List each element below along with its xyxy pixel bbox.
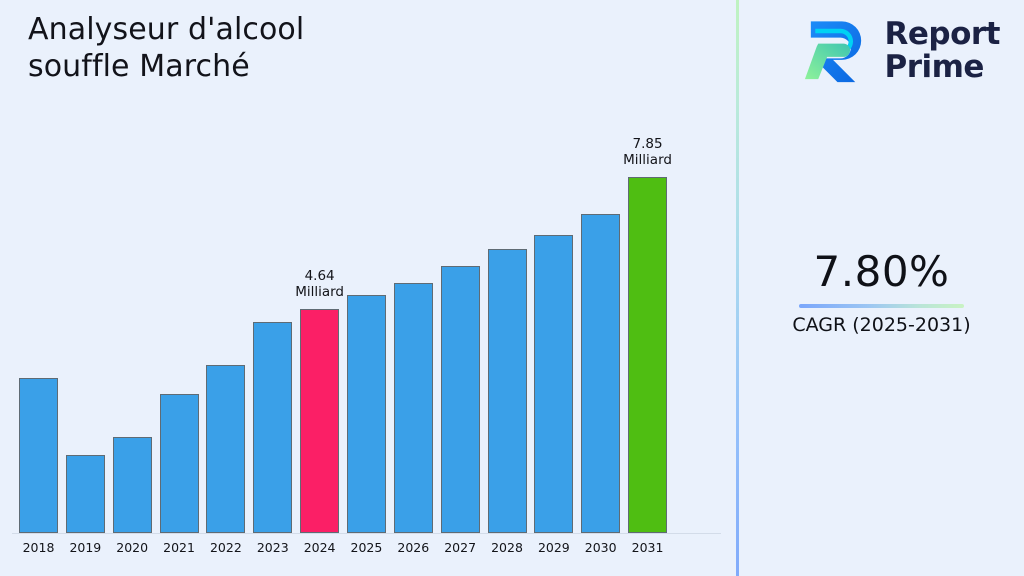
- chart-panel: Analyseur d'alcool souffle Marché 201820…: [0, 0, 736, 576]
- x-tick-2030: 2030: [577, 540, 624, 555]
- cagr-value: 7.80%: [739, 250, 1024, 294]
- bar-chart: 20182019202020212022202320244.64 Milliar…: [0, 0, 736, 576]
- cagr-underline: [799, 304, 964, 308]
- bar-2030[interactable]: [581, 214, 620, 533]
- bar-2020[interactable]: [113, 437, 152, 533]
- x-tick-2031: 2031: [624, 540, 671, 555]
- summary-panel: Report Prime 7.80% CAGR (2025-2031): [739, 0, 1024, 576]
- bar-2027[interactable]: [441, 266, 480, 533]
- bar-2028[interactable]: [488, 249, 527, 533]
- x-tick-2019: 2019: [62, 540, 109, 555]
- bar-2029[interactable]: [534, 235, 573, 533]
- x-tick-2020: 2020: [109, 540, 156, 555]
- cagr-caption: CAGR (2025-2031): [739, 314, 1024, 337]
- bar-2023[interactable]: [253, 322, 292, 533]
- cagr-block: 7.80% CAGR (2025-2031): [739, 250, 1024, 337]
- x-tick-2022: 2022: [202, 540, 249, 555]
- x-tick-2028: 2028: [484, 540, 531, 555]
- bar-2024[interactable]: [300, 309, 339, 533]
- bar-2026[interactable]: [394, 283, 433, 533]
- x-tick-2029: 2029: [530, 540, 577, 555]
- x-axis-line: [12, 533, 721, 534]
- x-tick-2026: 2026: [390, 540, 437, 555]
- x-tick-2021: 2021: [156, 540, 203, 555]
- bar-2021[interactable]: [160, 394, 199, 533]
- report-prime-logo: Report Prime: [799, 14, 1001, 88]
- bar-2031[interactable]: [628, 177, 667, 533]
- x-tick-2025: 2025: [343, 540, 390, 555]
- page-root: Analyseur d'alcool souffle Marché 201820…: [0, 0, 1024, 576]
- bar-2025[interactable]: [347, 295, 386, 533]
- x-tick-2024: 2024: [296, 540, 343, 555]
- report-prime-logo-text: Report Prime: [885, 18, 1001, 84]
- bar-2018[interactable]: [19, 378, 58, 533]
- x-tick-2018: 2018: [15, 540, 62, 555]
- bar-2019[interactable]: [66, 455, 105, 533]
- x-tick-2023: 2023: [249, 540, 296, 555]
- x-tick-2027: 2027: [437, 540, 484, 555]
- bar-value-label-2031: 7.85 Milliard: [602, 137, 693, 169]
- bar-2022[interactable]: [206, 365, 245, 533]
- report-prime-logo-mark: [799, 14, 873, 88]
